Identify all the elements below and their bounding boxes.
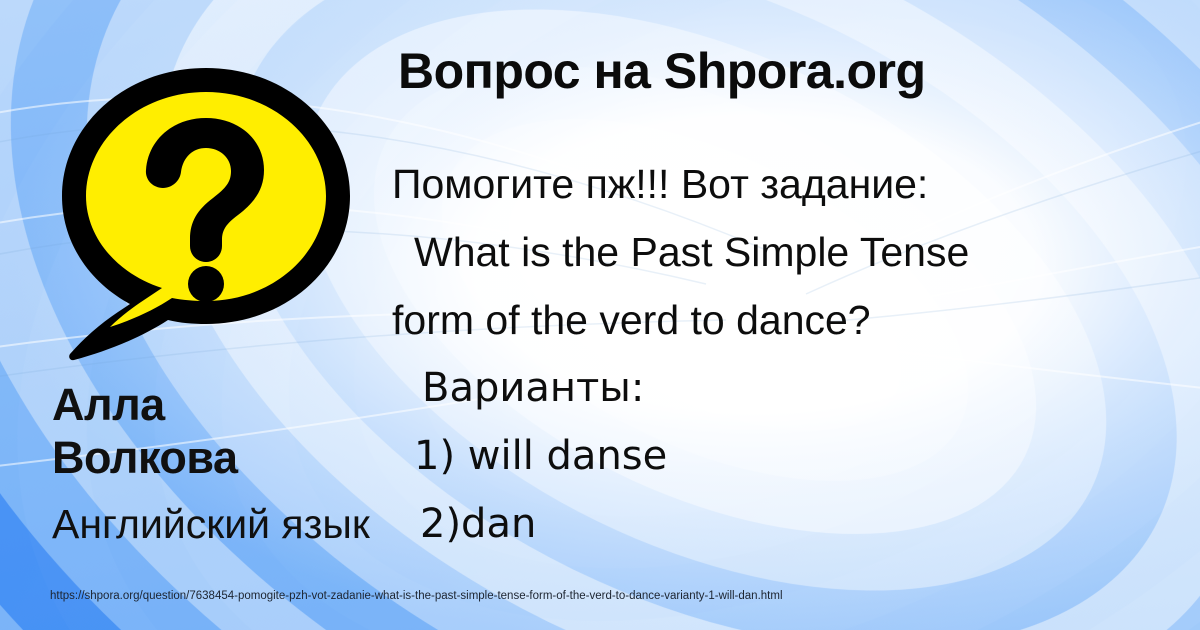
page-title: Вопрос на Shpora.org — [398, 46, 1168, 96]
author-name-line-2: Волкова — [52, 431, 382, 484]
author-name-line-1: Алла — [52, 378, 382, 431]
question-line-1: Помогите пж!!! Вот задание: — [392, 150, 1172, 218]
question-share-card: Вопрос на Shpora.org Помогите пж!!! Вот … — [0, 0, 1200, 630]
author-name: Алла Волкова — [52, 378, 382, 484]
variants-label: Варианты: — [392, 354, 1172, 422]
question-mark-dot — [188, 266, 224, 302]
source-url[interactable]: https://shpora.org/question/7638454-pomo… — [50, 589, 783, 603]
variant-option-1: 1) will danse — [392, 422, 1172, 490]
question-body: Помогите пж!!! Вот задание: What is the … — [392, 150, 1172, 558]
question-line-2: What is the Past Simple Tense — [392, 218, 1172, 286]
question-mark-icon — [56, 62, 366, 362]
question-speech-bubble-icon — [56, 62, 366, 362]
subject-label: Английский язык — [52, 500, 532, 548]
question-line-3: form of the verd to dance? — [392, 286, 1172, 354]
